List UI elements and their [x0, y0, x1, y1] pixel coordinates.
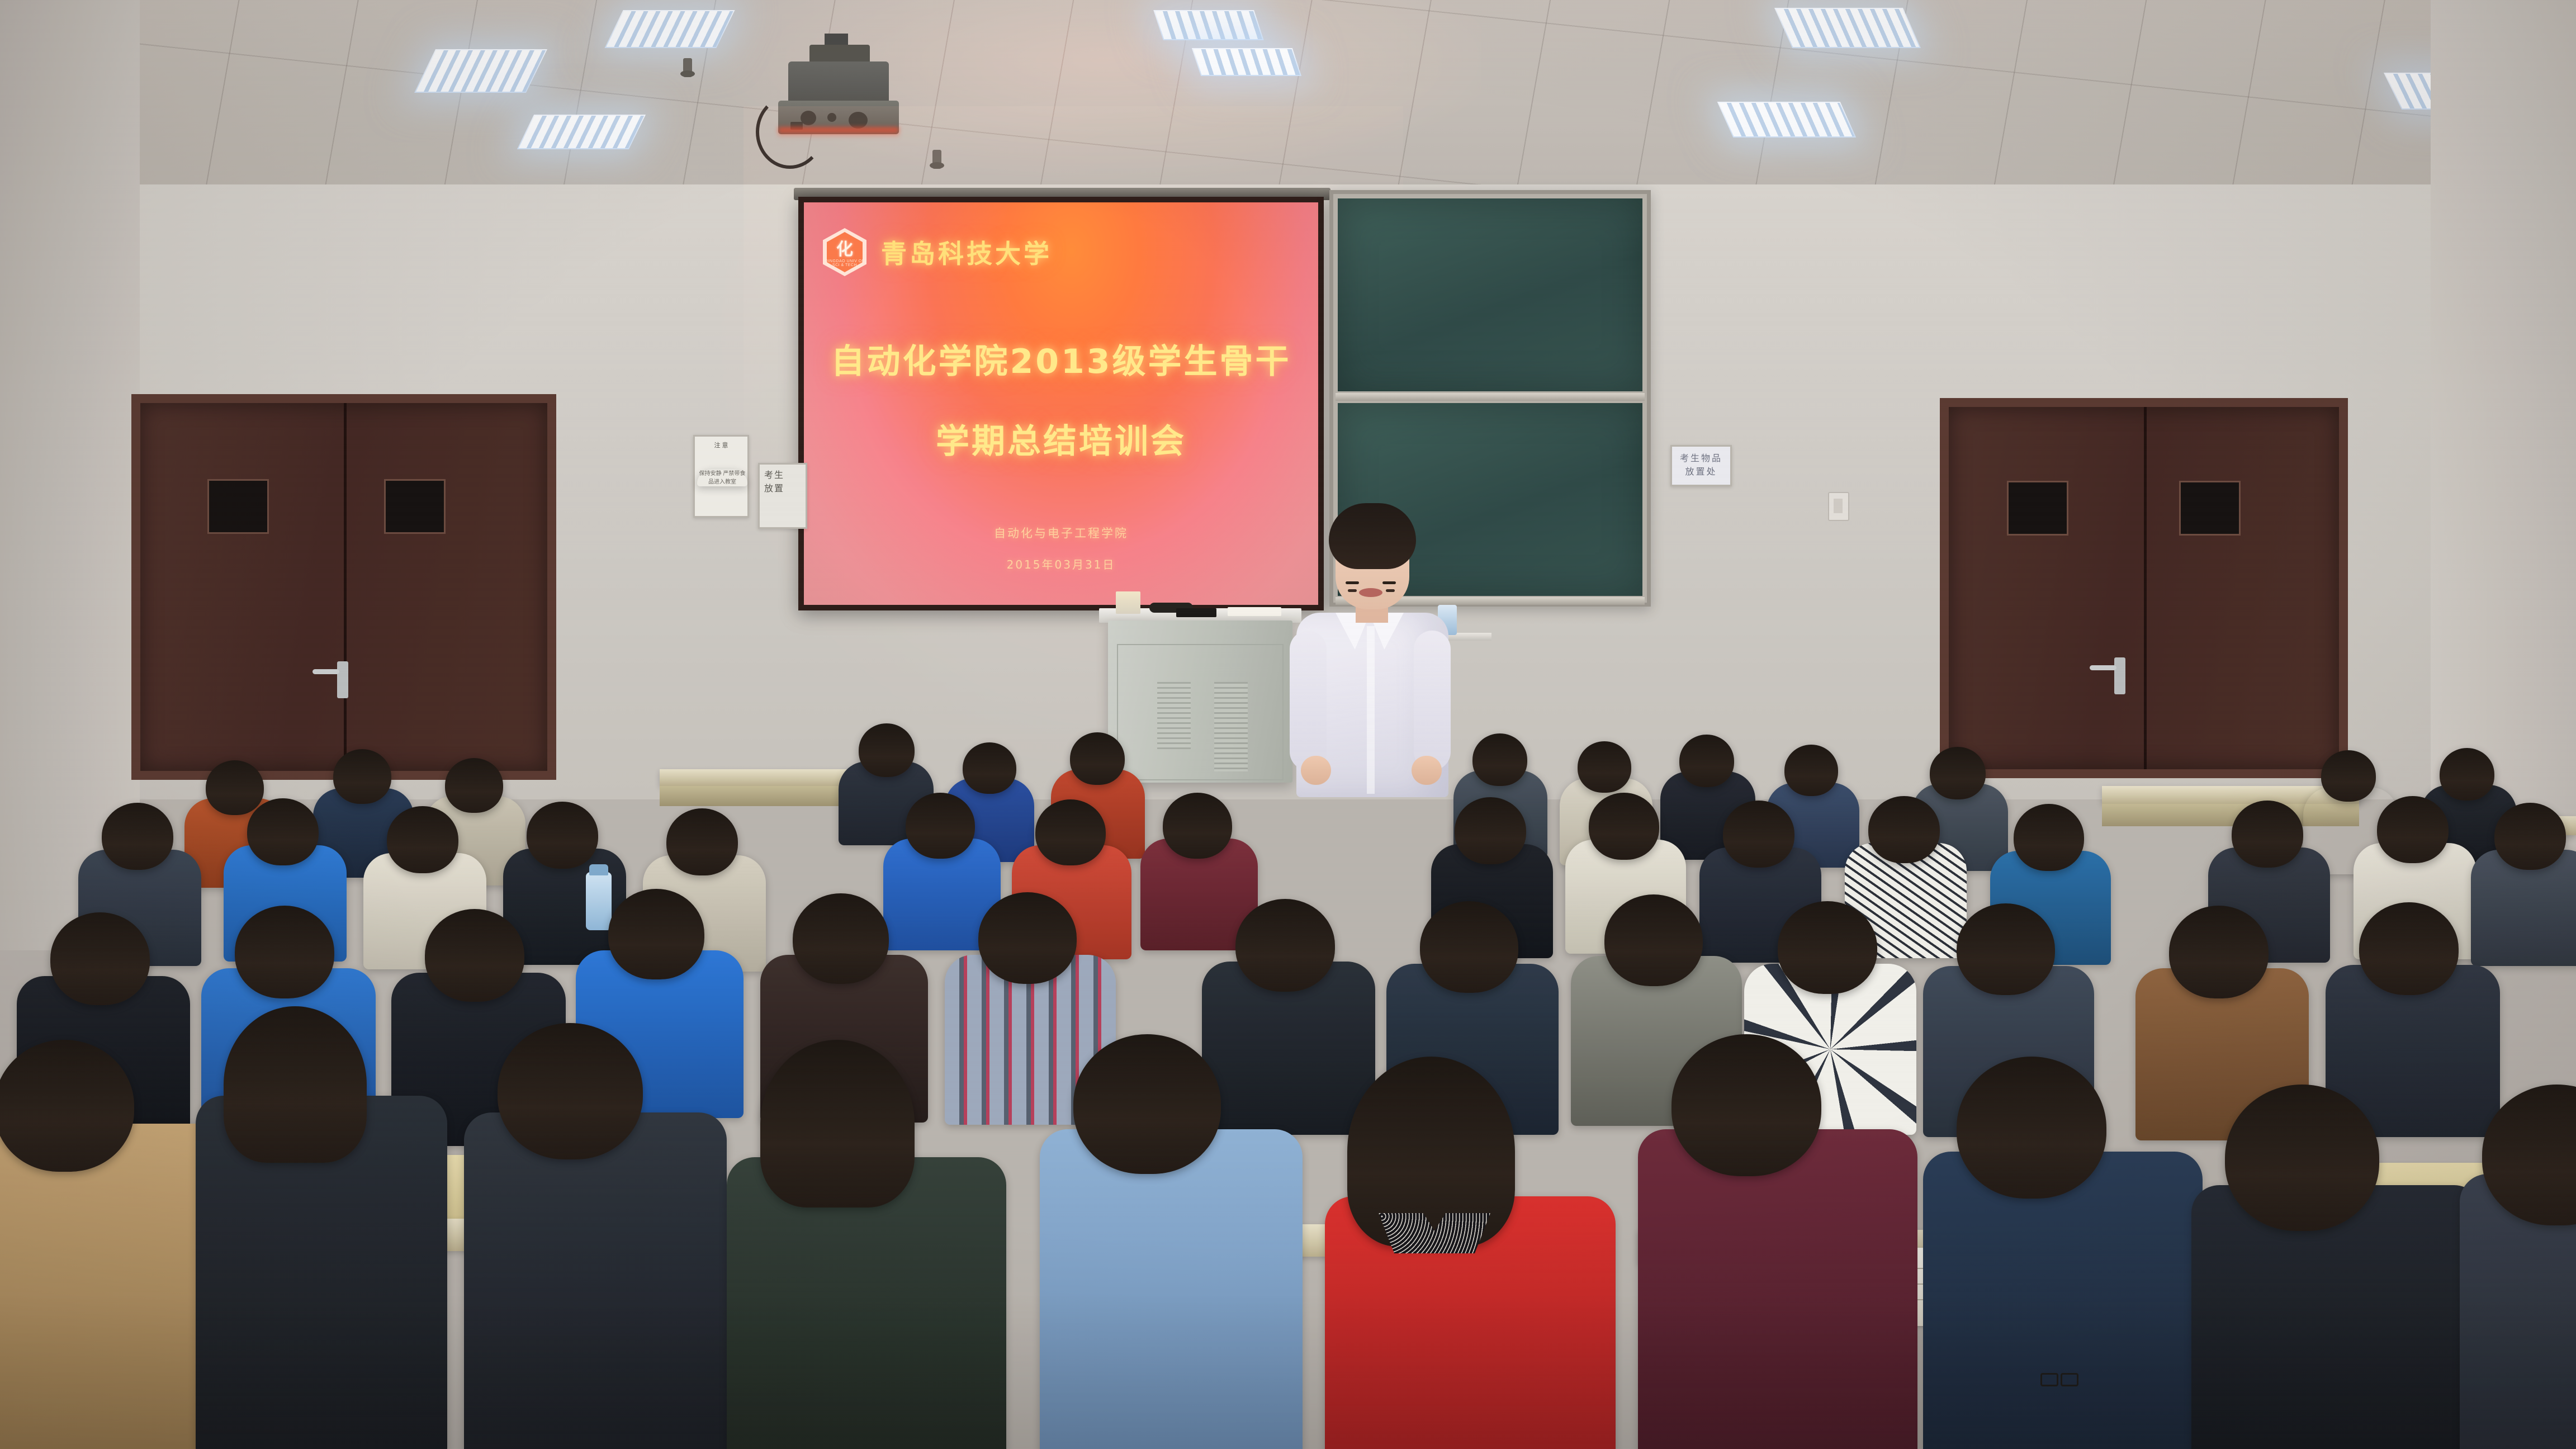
- ceiling-light-2: [517, 115, 646, 149]
- sprinkler-head: [683, 58, 692, 77]
- ceiling-light-1: [414, 49, 547, 93]
- audience-head: [2359, 902, 2459, 995]
- presenter-eye-left: [1348, 589, 1357, 592]
- audience-head: [235, 906, 334, 998]
- audience-head: [666, 808, 738, 875]
- belongings-sign-line2: 放置处: [1674, 466, 1728, 479]
- projection-screen-frame: 化 QINGDAO UNIV OF SCI & TECH 青岛科技大学 自动化学…: [798, 197, 1324, 610]
- wall-sign-hidden-line2: 放置: [764, 482, 803, 496]
- ceiling-warm-glow: [643, 0, 1481, 198]
- audience-head: [1778, 901, 1877, 994]
- ceiling-light-5: [1192, 48, 1301, 76]
- slide-footer-org: 自动化与电子工程学院: [994, 527, 1128, 540]
- audience-head: [527, 802, 598, 869]
- audience-head: [2494, 803, 2566, 870]
- audience-head: [2232, 801, 2303, 868]
- thermos-bottle[interactable]: [586, 872, 612, 930]
- blackboard-panel-top: [1338, 198, 1642, 391]
- audience-body-foreground: [1923, 1152, 2203, 1449]
- audience-head: [2014, 804, 2084, 871]
- door-right-window-2: [2179, 481, 2241, 536]
- audience-head: [1578, 741, 1631, 793]
- university-logo-icon: 化 QINGDAO UNIV OF SCI & TECH: [823, 228, 866, 276]
- audience-head: [1420, 901, 1518, 993]
- light-switch-plate[interactable]: [1828, 492, 1849, 521]
- audience-head: [963, 742, 1016, 794]
- slide-footer-date: 2015年03月31日: [804, 556, 1318, 572]
- audience-head: [1957, 903, 2055, 995]
- audience-head: [50, 912, 150, 1005]
- slide-title-line1: 自动化学院2013级学生骨干: [831, 342, 1291, 381]
- audience-head-foreground: [760, 1040, 915, 1207]
- audience-head: [1604, 894, 1703, 986]
- audience-head: [206, 760, 264, 815]
- projector-cable: [756, 95, 824, 169]
- door-right-window-1: [2007, 481, 2068, 536]
- audience-head-foreground: [224, 1006, 367, 1163]
- audience-head: [387, 806, 458, 873]
- audience-head: [445, 758, 503, 813]
- wall-sign-partially-hidden: 考生 放置: [758, 463, 807, 529]
- audience-head: [1070, 732, 1125, 785]
- audience-head: [1235, 899, 1335, 992]
- audience-head: [1472, 733, 1527, 786]
- ceiling-light-3: [604, 10, 735, 48]
- sprinkler-head-2: [932, 150, 941, 169]
- audience-head: [859, 723, 915, 777]
- slide-footer: 自动化与电子工程学院 2015年03月31日: [804, 524, 1318, 572]
- audience-head: [1589, 793, 1659, 860]
- wall-sign-belongings: 考生物品 放置处: [1670, 445, 1732, 486]
- logo-mark-glyph: 化: [836, 241, 853, 258]
- eyeglasses: [2040, 1373, 2076, 1383]
- presenter-hair: [1329, 503, 1416, 569]
- audience-head: [1930, 747, 1986, 799]
- audience: [0, 593, 2576, 1449]
- audience-head-foreground: [498, 1023, 643, 1159]
- audience-head: [2440, 748, 2494, 801]
- audience-head-foreground: [1957, 1057, 2106, 1199]
- logo-subtext: QINGDAO UNIV OF SCI & TECH: [823, 259, 866, 267]
- audience-head-foreground: [0, 1040, 134, 1172]
- wall-notice-body: 保持安静 严禁带食品进入教室: [697, 470, 747, 486]
- audience-head: [1163, 793, 1232, 859]
- audience-head: [2321, 750, 2376, 802]
- audience-head: [978, 892, 1077, 984]
- classroom-photo-scene: 化 QINGDAO UNIV OF SCI & TECH 青岛科技大学 自动化学…: [0, 0, 2576, 1449]
- audience-head: [1723, 801, 1794, 868]
- slide-title-line2: 学期总结培训会: [804, 414, 1318, 463]
- university-name: 青岛科技大学: [881, 234, 1052, 271]
- audience-head: [333, 749, 391, 804]
- audience-head: [2377, 796, 2449, 863]
- audience-head: [1784, 745, 1838, 796]
- slide-header: 化 QINGDAO UNIV OF SCI & TECH 青岛科技大学: [823, 228, 1052, 276]
- audience-body-foreground: [1638, 1129, 1917, 1449]
- wall-notice-title: 注 意: [697, 441, 745, 451]
- ceiling-light-6: [1774, 8, 1921, 48]
- audience-head: [102, 803, 173, 870]
- presenter-eye-right: [1386, 589, 1395, 592]
- presenter-brow-left: [1346, 581, 1359, 584]
- blackboard-chalk-rail: [1336, 393, 1645, 401]
- audience-head: [247, 798, 319, 865]
- slide-title: 自动化学院2013级学生骨干 学期总结培训会: [804, 334, 1318, 463]
- audience-head: [608, 889, 704, 979]
- wall-notice-sign: 注 意 保持安静 严禁带食品进入教室: [693, 435, 749, 518]
- audience-head-foreground: [2225, 1085, 2379, 1231]
- audience-head: [793, 893, 889, 984]
- audience-body-foreground: [464, 1112, 727, 1449]
- audience-head-foreground-woman: [1347, 1057, 1515, 1247]
- ceiling-light-7: [1717, 102, 1856, 138]
- door-left-window-1: [207, 479, 269, 534]
- presenter-brow-right: [1382, 581, 1396, 584]
- audience-head: [425, 909, 524, 1002]
- audience-head-foreground: [1671, 1034, 1821, 1176]
- belongings-sign-line1: 考生物品: [1674, 452, 1728, 466]
- audience-head: [1035, 799, 1106, 865]
- audience-head: [2169, 906, 2269, 998]
- door-left-window-2: [384, 479, 446, 534]
- audience-head: [1455, 797, 1526, 864]
- ceiling-light-4: [1153, 10, 1264, 40]
- audience-head-foreground: [1073, 1034, 1221, 1174]
- audience-head: [906, 793, 975, 859]
- projection-screen: 化 QINGDAO UNIV OF SCI & TECH 青岛科技大学 自动化学…: [804, 202, 1318, 605]
- audience-head: [1868, 796, 1940, 863]
- audience-body-foreground: [1040, 1129, 1303, 1449]
- wall-sign-hidden-line1: 考生: [764, 469, 803, 482]
- audience-head: [1679, 735, 1734, 787]
- audience-body-foreground: [0, 1124, 229, 1449]
